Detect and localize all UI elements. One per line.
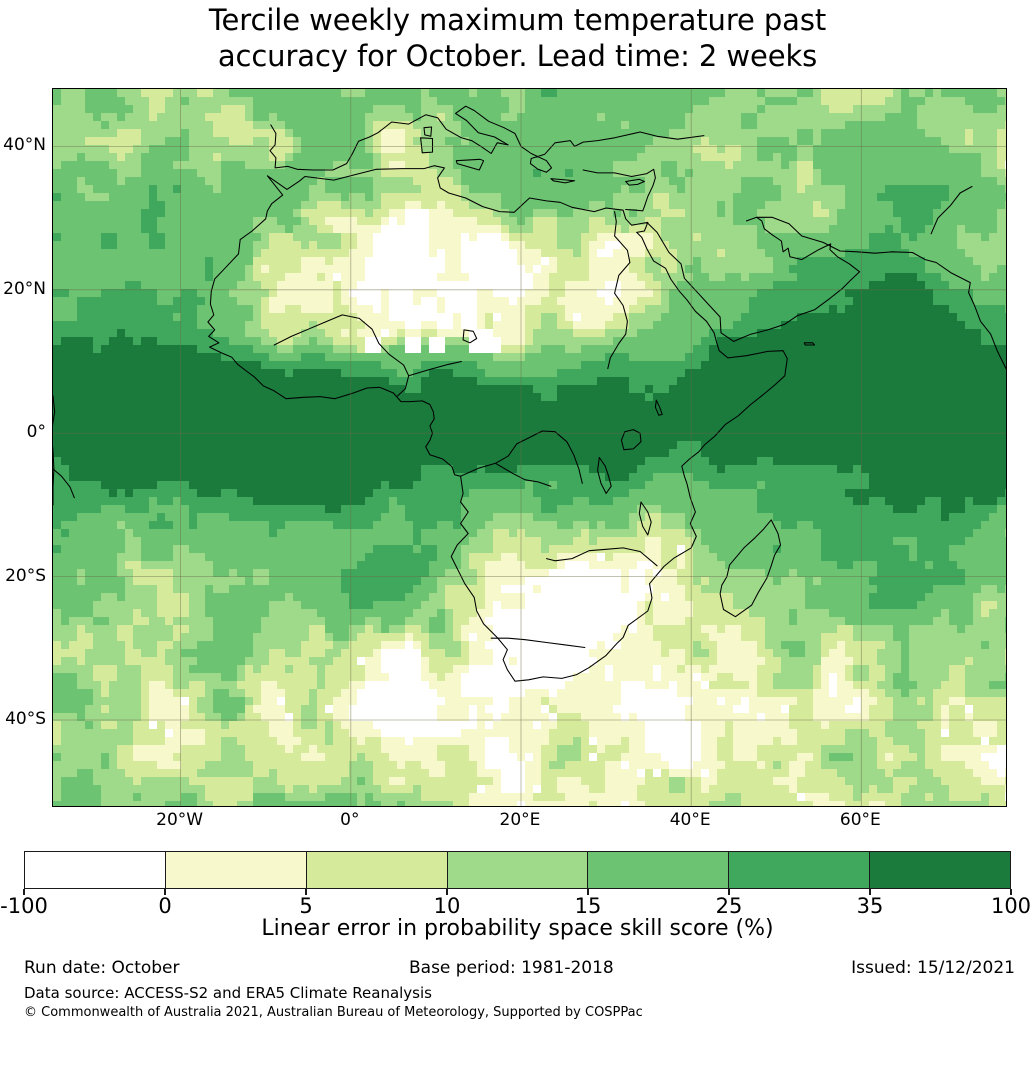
colorbar-segment (588, 852, 729, 888)
longitude-tick-label: 60°E (840, 810, 881, 830)
colorbar-segment (870, 852, 1010, 888)
colorbar-label: Linear error in probability space skill … (0, 916, 1035, 941)
colorbar-tick-label: 10 (434, 894, 461, 918)
colorbar-segment (448, 852, 589, 888)
data-source-text: Data source: ACCESS-S2 and ERA5 Climate … (24, 984, 432, 1002)
latitude-tick-label: 20°S (0, 566, 46, 586)
colorbar-segments (24, 851, 1011, 889)
colorbar-tick-label: 5 (299, 894, 312, 918)
latitude-tick-label: 20°N (0, 279, 46, 299)
colorbar-segment (307, 852, 448, 888)
footer: Run date: October Base period: 1981-2018… (0, 958, 1035, 1028)
latitude-tick-label: 0° (0, 422, 46, 442)
run-date-text: Run date: October (24, 958, 180, 978)
colorbar-segment (25, 852, 166, 888)
longitude-tick-label: 40°E (670, 810, 711, 830)
longitude-tick-label: 20°W (156, 810, 203, 830)
issued-date-text: Issued: 15/12/2021 (851, 958, 1015, 978)
longitude-tick-label: 0° (340, 810, 359, 830)
colorbar-tick-label: 15 (575, 894, 602, 918)
title-line-1: Tercile weekly maximum temperature past (0, 2, 1035, 38)
map-plot-area (52, 88, 1007, 807)
colorbar-tick-label: 35 (857, 894, 884, 918)
colorbar-tick-label: 100 (991, 894, 1031, 918)
colorbar-segment (729, 852, 870, 888)
latitude-tick-label: 40°N (0, 135, 46, 155)
colorbar-tick-label: -100 (0, 894, 48, 918)
longitude-tick-label: 20°E (500, 810, 541, 830)
colorbar-tick-label: 0 (158, 894, 171, 918)
colorbar-tick-label: 25 (716, 894, 743, 918)
graticule-overlay (53, 89, 1006, 806)
base-period-text: Base period: 1981-2018 (409, 958, 614, 978)
latitude-tick-label: 40°S (0, 709, 46, 729)
colorbar-segment (166, 852, 307, 888)
page-title: Tercile weekly maximum temperature past … (0, 0, 1035, 74)
figure-root: Tercile weekly maximum temperature past … (0, 0, 1035, 1065)
copyright-text: © Commonwealth of Australia 2021, Austra… (24, 1005, 643, 1020)
footer-row-primary: Run date: October Base period: 1981-2018… (0, 958, 1035, 982)
title-line-2: accuracy for October. Lead time: 2 weeks (0, 38, 1035, 74)
colorbar (24, 851, 1011, 889)
